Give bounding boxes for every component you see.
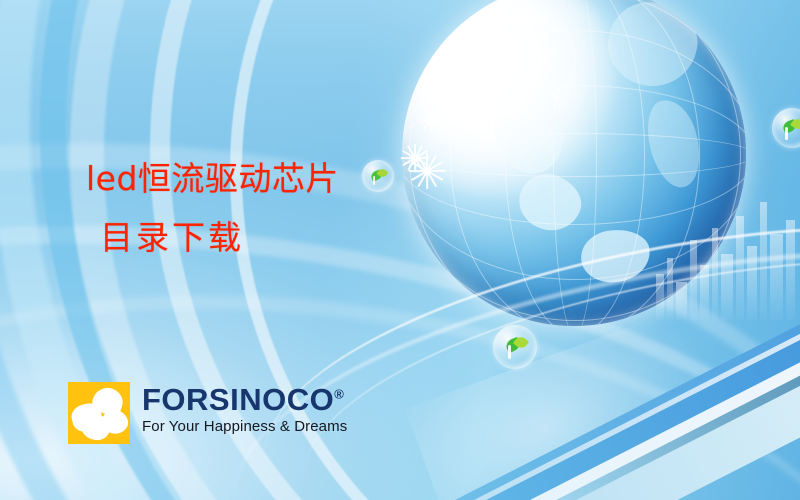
logo-tagline: For Your Happiness & Dreams xyxy=(142,419,347,434)
bubble-leaf-middle xyxy=(493,325,537,369)
brand-logo: FORSINOCO® For Your Happiness & Dreams xyxy=(68,382,347,444)
registered-trademark-icon: ® xyxy=(334,387,344,402)
page-title: led恒流驱动芯片 目录下载 xyxy=(86,162,446,254)
logo-wordmark-text: FORSINOCO xyxy=(142,382,334,417)
city-skyline xyxy=(650,190,800,320)
sparkle-tiny xyxy=(420,110,442,132)
leaf-stem xyxy=(785,127,788,140)
logo-text-block: FORSINOCO® For Your Happiness & Dreams xyxy=(142,382,347,434)
leaf-stem xyxy=(508,345,511,359)
logo-mark-icon xyxy=(68,382,130,444)
page-title-line-1: led恒流驱动芯片 xyxy=(86,162,446,195)
page-title-line-2: 目录下载 xyxy=(100,221,446,254)
logo-wordmark: FORSINOCO® xyxy=(142,384,347,415)
slide-canvas: led恒流驱动芯片 目录下载 FORSINOCO® For Your Happi… xyxy=(0,0,800,500)
